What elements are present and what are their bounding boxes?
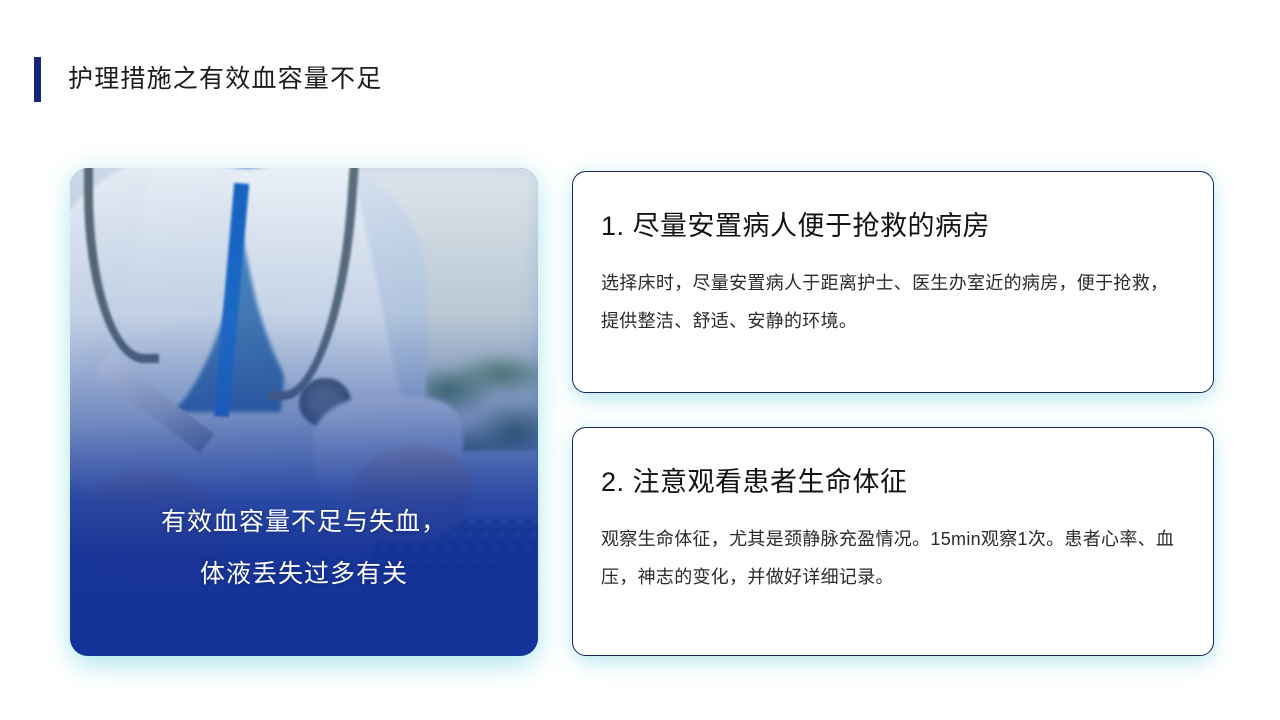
slide-root: 护理措施之有效血容量不足 有效血容量不足与失血， 体液丢失过多有	[0, 0, 1280, 720]
info-card-2-heading: 2. 注意观看患者生命体征	[601, 468, 1185, 498]
header-accent-bar	[34, 57, 41, 102]
media-card: 有效血容量不足与失血， 体液丢失过多有关	[70, 168, 538, 656]
media-caption-line-1: 有效血容量不足与失血，	[70, 496, 538, 548]
info-card-2-body: 观察生命体征，尤其是颈静脉充盈情况。15min观察1次。患者心率、血压，神志的变…	[601, 520, 1185, 596]
info-card-1-heading: 1. 尽量安置病人便于抢救的病房	[601, 212, 1185, 242]
info-card-1-body: 选择床时，尽量安置病人于距离护士、医生办室近的病房，便于抢救，提供整洁、舒适、安…	[601, 264, 1185, 340]
info-card-2[interactable]: 2. 注意观看患者生命体征 观察生命体征，尤其是颈静脉充盈情况。15min观察1…	[572, 427, 1214, 656]
media-caption-line-2: 体液丢失过多有关	[70, 548, 538, 600]
media-caption: 有效血容量不足与失血， 体液丢失过多有关	[70, 496, 538, 600]
page-title: 护理措施之有效血容量不足	[68, 67, 382, 92]
info-card-1[interactable]: 1. 尽量安置病人便于抢救的病房 选择床时，尽量安置病人于距离护士、医生办室近的…	[572, 171, 1214, 393]
page-header: 护理措施之有效血容量不足	[34, 57, 382, 102]
